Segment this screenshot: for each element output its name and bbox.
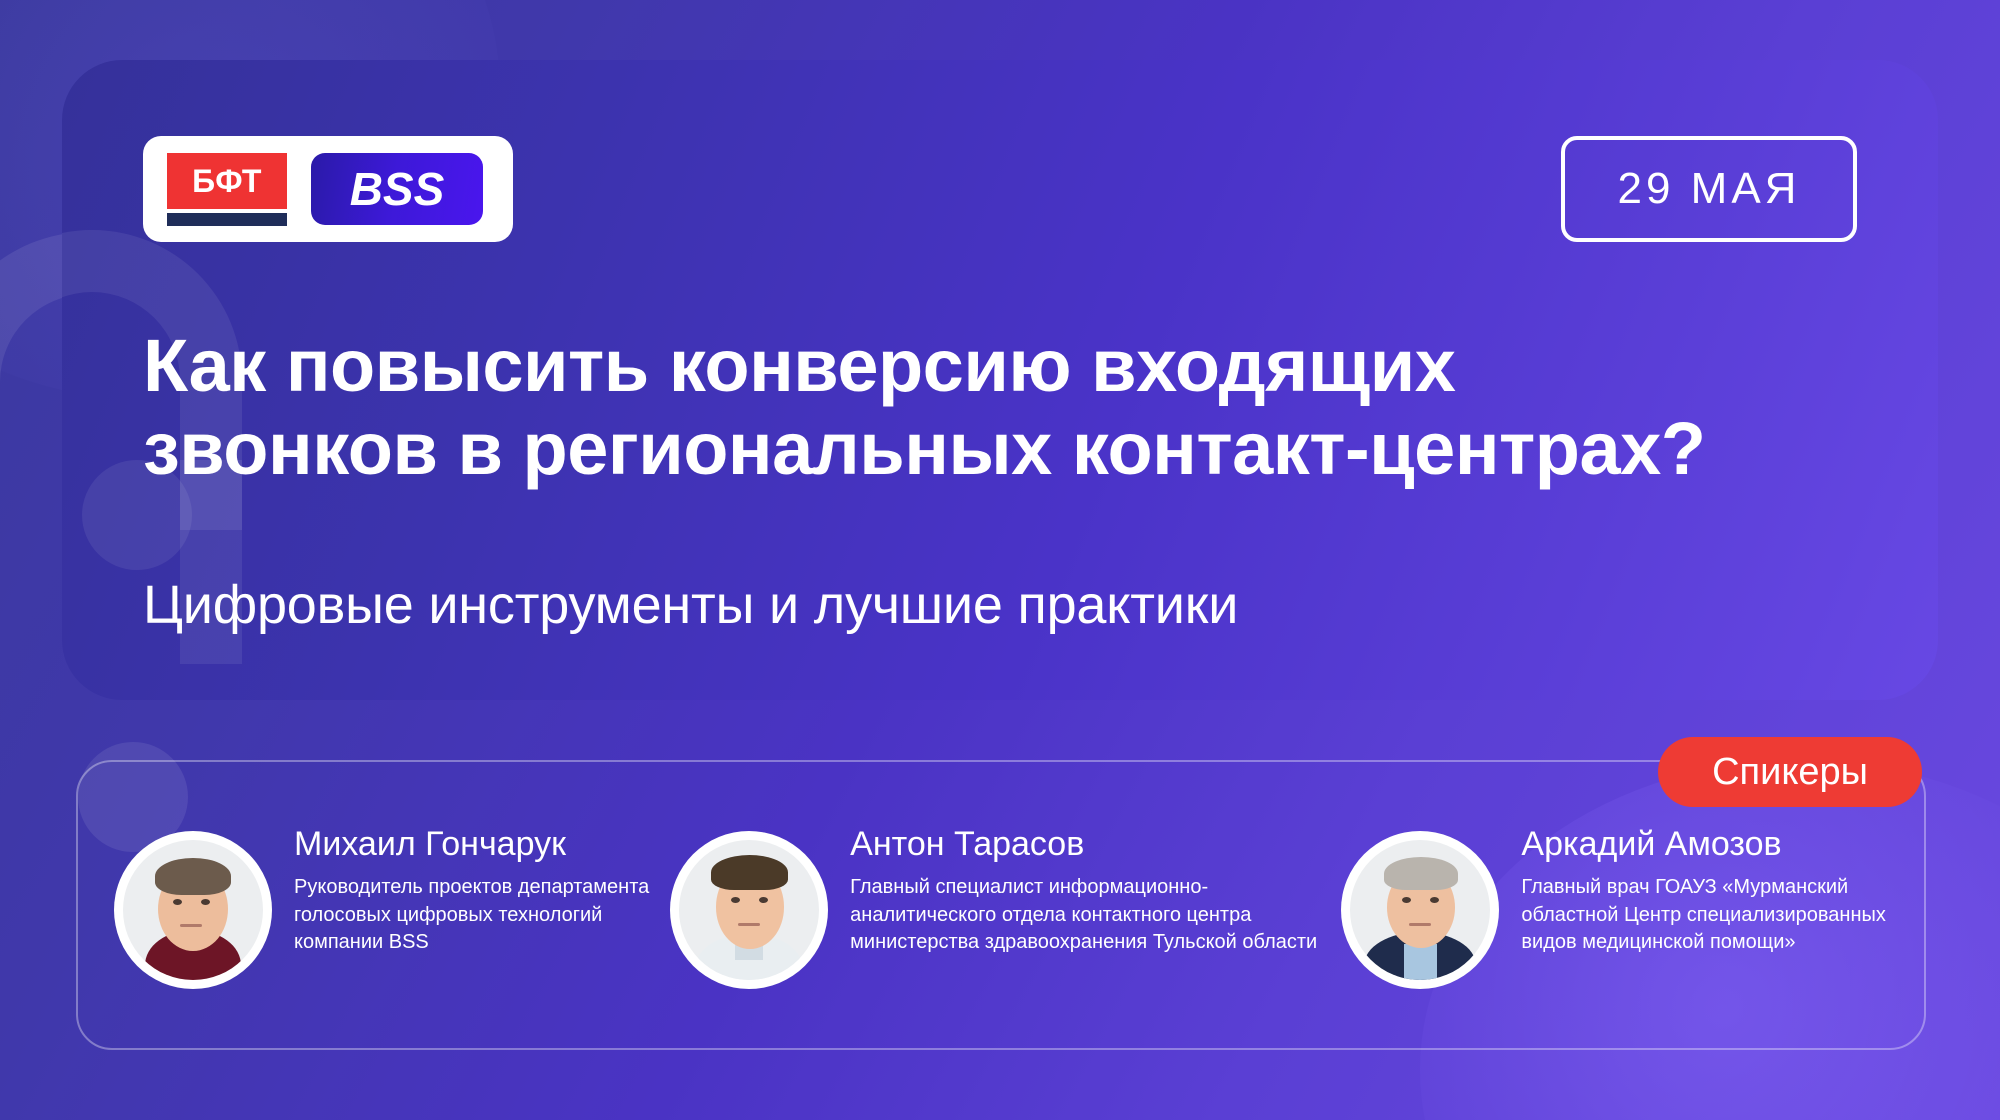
date-badge-label: 29 МАЯ [1618, 167, 1801, 211]
subheadline-text: Цифровые инструменты и лучшие практики [143, 573, 1823, 638]
subheadline-block: Цифровые инструменты и лучшие практики [143, 573, 1823, 638]
speakers-badge: Спикеры [1658, 737, 1922, 807]
avatar [1341, 831, 1499, 989]
avatar [114, 831, 272, 989]
headline-block: Как повысить конверсию входящих звонков … [143, 325, 1823, 491]
speaker-role: Главный врач ГОАУЗ «Мурманский областной… [1521, 874, 1888, 957]
webinar-banner: БФТ BSS 29 МАЯ Как повысить конверсию вх… [0, 0, 2000, 1120]
speaker-name: Антон Тарасов [850, 825, 1341, 864]
bss-logo: BSS [311, 153, 483, 225]
date-badge: 29 МАЯ [1561, 136, 1857, 242]
speaker-card: Антон Тарасов Главный специалист информа… [670, 821, 1341, 989]
headline-line-2: звонков в региональных контакт-центрах? [143, 408, 1823, 491]
speaker-text: Аркадий Амозов Главный врач ГОАУЗ «Мурма… [1521, 821, 1888, 957]
portrait-mikhail-goncharuk [123, 840, 263, 980]
speakers-badge-label: Спикеры [1712, 751, 1868, 793]
portrait-anton-tarasov [679, 840, 819, 980]
speaker-text: Антон Тарасов Главный специалист информа… [850, 821, 1341, 957]
portrait-arkadiy-amozov [1350, 840, 1490, 980]
speaker-text: Михаил Гончарук Руководитель проектов де… [294, 821, 670, 957]
logo-lockup[interactable]: БФТ BSS [143, 136, 513, 242]
speaker-card: Аркадий Амозов Главный врач ГОАУЗ «Мурма… [1341, 821, 1888, 989]
bft-logo: БФТ [167, 153, 287, 226]
speaker-role: Главный специалист информационно-аналити… [850, 874, 1341, 957]
speaker-name: Михаил Гончарук [294, 825, 670, 864]
speaker-name: Аркадий Амозов [1521, 825, 1888, 864]
bss-logo-text: BSS [350, 166, 445, 212]
speakers-panel: Михаил Гончарук Руководитель проектов де… [76, 760, 1926, 1050]
avatar [670, 831, 828, 989]
bft-logo-text: БФТ [192, 165, 262, 197]
speaker-card: Михаил Гончарук Руководитель проектов де… [114, 821, 670, 989]
speaker-role: Руководитель проектов департамента голос… [294, 874, 670, 957]
bft-logo-underbar [167, 213, 287, 226]
bft-logo-box: БФТ [167, 153, 287, 209]
headline-line-1: Как повысить конверсию входящих [143, 325, 1823, 408]
